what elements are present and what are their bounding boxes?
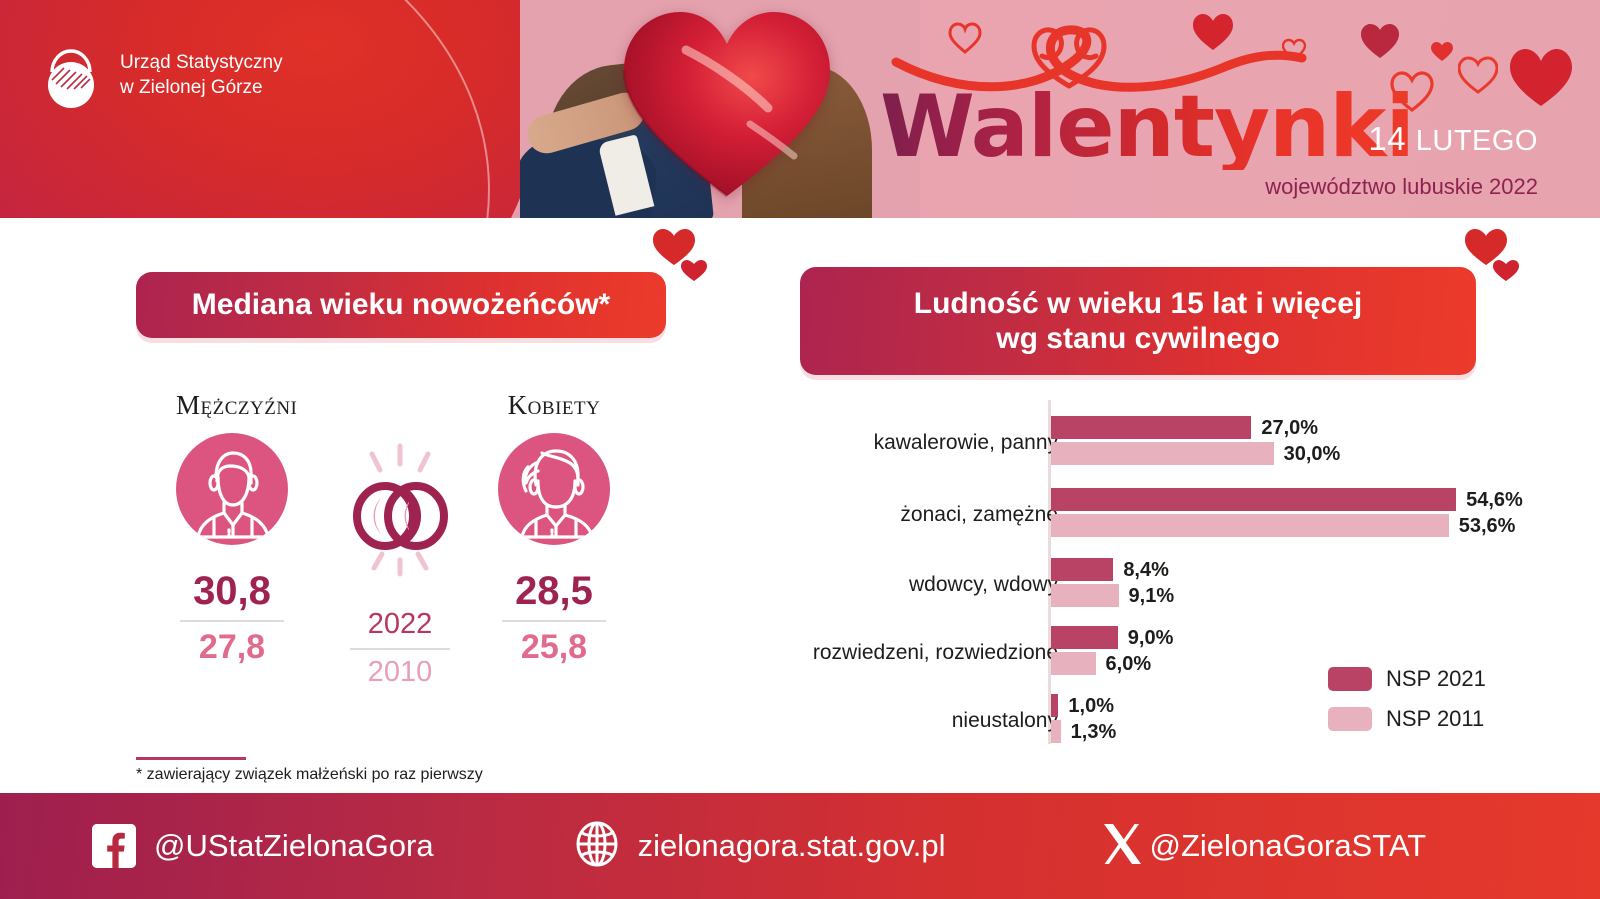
facebook-link[interactable]: @UStatZielonaGora [92, 824, 434, 868]
right-panel-title-line2: wg stanu cywilnego [914, 321, 1362, 356]
decorative-heart-outline-3 [1282, 38, 1306, 66]
chart-category-label: wdowcy, wdowy [909, 573, 1058, 597]
chart-bar-2011 [1051, 652, 1096, 675]
chart-category-label: nieustalony [952, 709, 1058, 733]
decorative-hearts-right [1462, 227, 1522, 285]
women-stat-column: Kobiety [498, 390, 610, 664]
chart-legend: NSP 2021 NSP 2011 [1328, 666, 1486, 746]
chart-bar-value: 6,0% [1106, 653, 1152, 676]
men-label: Mężczyźni [176, 390, 288, 421]
decorative-heart-solid-2 [1360, 22, 1400, 65]
region-year-subtitle: województwo lubuskie 2022 [1265, 174, 1538, 200]
chart-bar-2011 [1051, 442, 1274, 465]
date-month: LUTEGO [1416, 125, 1538, 157]
chart-bar-value: 8,4% [1123, 559, 1169, 582]
female-avatar-icon [498, 433, 610, 545]
chart-bar-2021 [1051, 488, 1456, 511]
decorative-heart-solid-4 [1508, 46, 1574, 113]
year-2022-label: 2022 [341, 610, 459, 639]
legend-item-2021: NSP 2021 [1328, 666, 1486, 692]
legend-swatch-2011 [1328, 707, 1372, 731]
chart-bar-2011 [1051, 720, 1061, 743]
legend-swatch-2021 [1328, 667, 1372, 691]
women-divider [502, 620, 606, 622]
chart-category-label: żonaci, zamężne [900, 503, 1058, 527]
men-stat-column: Mężczyźni 30,8 [176, 390, 288, 664]
x-twitter-icon [1098, 820, 1146, 873]
walentynki-title: Walentynki [880, 84, 1414, 170]
heart-balloon-icon [618, 4, 836, 204]
chart-bar-2021 [1051, 694, 1058, 717]
organization-name-line1: Urząd Statystyczny [120, 50, 283, 75]
chart-bar-2021 [1051, 558, 1113, 581]
decorative-heart-solid-1 [1192, 12, 1234, 57]
decorative-heart-outline-2 [1030, 26, 1108, 95]
chart-bar-value: 9,0% [1128, 627, 1174, 650]
decorative-heart-outline-1 [948, 22, 982, 59]
chart-bar-2021 [1051, 626, 1118, 649]
women-median-2022: 28,5 [498, 571, 610, 611]
x-handle: @ZielonaGoraSTAT [1150, 828, 1427, 864]
footer-bar: @UStatZielonaGora zielonagora.stat.gov.p… [0, 793, 1600, 899]
marital-status-chart: kawalerowie, panny27,0%30,0%żonaci, zamę… [780, 398, 1570, 758]
footnote-divider [136, 757, 246, 760]
organization-name-line2: w Zielonej Górze [120, 75, 283, 100]
couple-photo [520, 0, 920, 218]
globe-icon [574, 821, 620, 872]
chart-bar-value: 9,1% [1129, 585, 1175, 608]
chart-bar-value: 53,6% [1459, 515, 1516, 538]
year-divider [350, 648, 450, 650]
legend-label-2011: NSP 2011 [1386, 706, 1484, 732]
male-avatar-icon [176, 433, 288, 545]
men-median-2022: 30,8 [176, 571, 288, 611]
facebook-handle: @UStatZielonaGora [154, 828, 434, 864]
valentine-date: 14 LUTEGO [1368, 120, 1538, 158]
middle-year-column: 2022 2010 [341, 610, 459, 687]
date-day: 14 [1368, 120, 1406, 157]
women-median-2010: 25,8 [498, 630, 610, 664]
gus-logo-icon [38, 38, 104, 112]
chart-bar-value: 54,6% [1466, 489, 1523, 512]
men-divider [180, 620, 284, 622]
organization-name: Urząd Statystyczny w Zielonej Górze [120, 50, 283, 100]
chart-bar-value: 27,0% [1261, 417, 1318, 440]
website-link[interactable]: zielonagora.stat.gov.pl [574, 821, 946, 872]
year-2010-label: 2010 [341, 658, 459, 687]
left-panel-title: Mediana wieku nowożeńców* [136, 272, 666, 338]
chart-bar-2011 [1051, 514, 1449, 537]
chart-bar-value: 1,3% [1071, 721, 1117, 744]
wedding-rings-icon [340, 440, 460, 590]
chart-bar-2021 [1051, 416, 1251, 439]
x-link[interactable]: @ZielonaGoraSTAT [1098, 820, 1427, 873]
header-banner: Urząd Statystyczny w Zielonej Górze [0, 0, 1600, 218]
content-area: Mediana wieku nowożeńców* Mężczyźni [0, 218, 1600, 793]
decorative-hearts-left [650, 227, 710, 285]
footnote-text: * zawierający związek małżeński po raz p… [136, 766, 483, 784]
right-panel-title: Ludność w wieku 15 lat i więcej wg stanu… [800, 267, 1476, 375]
chart-bar-value: 30,0% [1284, 443, 1341, 466]
decorative-heart-solid-3 [1430, 40, 1454, 68]
chart-bar-2011 [1051, 584, 1119, 607]
chart-bar-value: 1,0% [1068, 695, 1114, 718]
chart-category-label: kawalerowie, panny [874, 431, 1058, 455]
website-url: zielonagora.stat.gov.pl [638, 828, 946, 864]
women-label: Kobiety [498, 390, 610, 421]
right-panel-title-line1: Ludność w wieku 15 lat i więcej [914, 286, 1362, 321]
facebook-icon [92, 824, 136, 868]
legend-item-2011: NSP 2011 [1328, 706, 1486, 732]
chart-category-label: rozwiedzeni, rozwiedzione [813, 641, 1058, 665]
organization-logo: Urząd Statystyczny w Zielonej Górze [38, 38, 283, 112]
decorative-heart-outline-4 [1390, 70, 1434, 117]
men-median-2010: 27,8 [176, 630, 288, 664]
legend-label-2021: NSP 2021 [1386, 666, 1486, 692]
decorative-heart-outline-5 [1458, 56, 1498, 99]
